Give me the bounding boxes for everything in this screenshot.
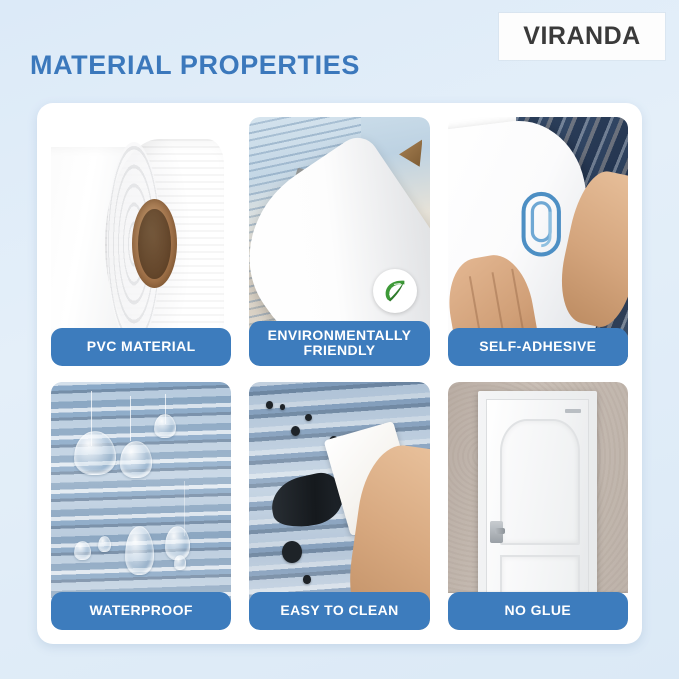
brand-logo: VIRANDA	[499, 13, 665, 60]
features-grid: PVC MATERIAL	[51, 117, 628, 630]
feature-tile-self-adhesive[interactable]: SELF-ADHESIVE	[448, 117, 628, 366]
paperclip-icon	[516, 182, 566, 266]
feature-tile-no-glue[interactable]: NO GLUE	[448, 382, 628, 631]
feature-tile-waterproof[interactable]: WATERPROOF	[51, 382, 231, 631]
feature-label: NO GLUE	[448, 592, 628, 630]
feature-tile-environmentally-friendly[interactable]: ENVIRONMENTALLY FRIENDLY	[249, 117, 429, 366]
brand-name: VIRANDA	[523, 22, 640, 51]
feature-label: EASY TO CLEAN	[249, 592, 429, 630]
feature-tile-easy-to-clean[interactable]: EASY TO CLEAN	[249, 382, 429, 631]
features-card: PVC MATERIAL	[37, 103, 642, 644]
feature-label: WATERPROOF	[51, 592, 231, 630]
material-properties-infographic: VIRANDA MATERIAL PROPERTIES PVC MATERIAL	[0, 0, 679, 679]
feature-label: PVC MATERIAL	[51, 328, 231, 366]
feature-tile-pvc-material[interactable]: PVC MATERIAL	[51, 117, 231, 366]
feature-label: SELF-ADHESIVE	[448, 328, 628, 366]
page-title: MATERIAL PROPERTIES	[30, 50, 360, 81]
feature-label: ENVIRONMENTALLY FRIENDLY	[249, 321, 429, 365]
